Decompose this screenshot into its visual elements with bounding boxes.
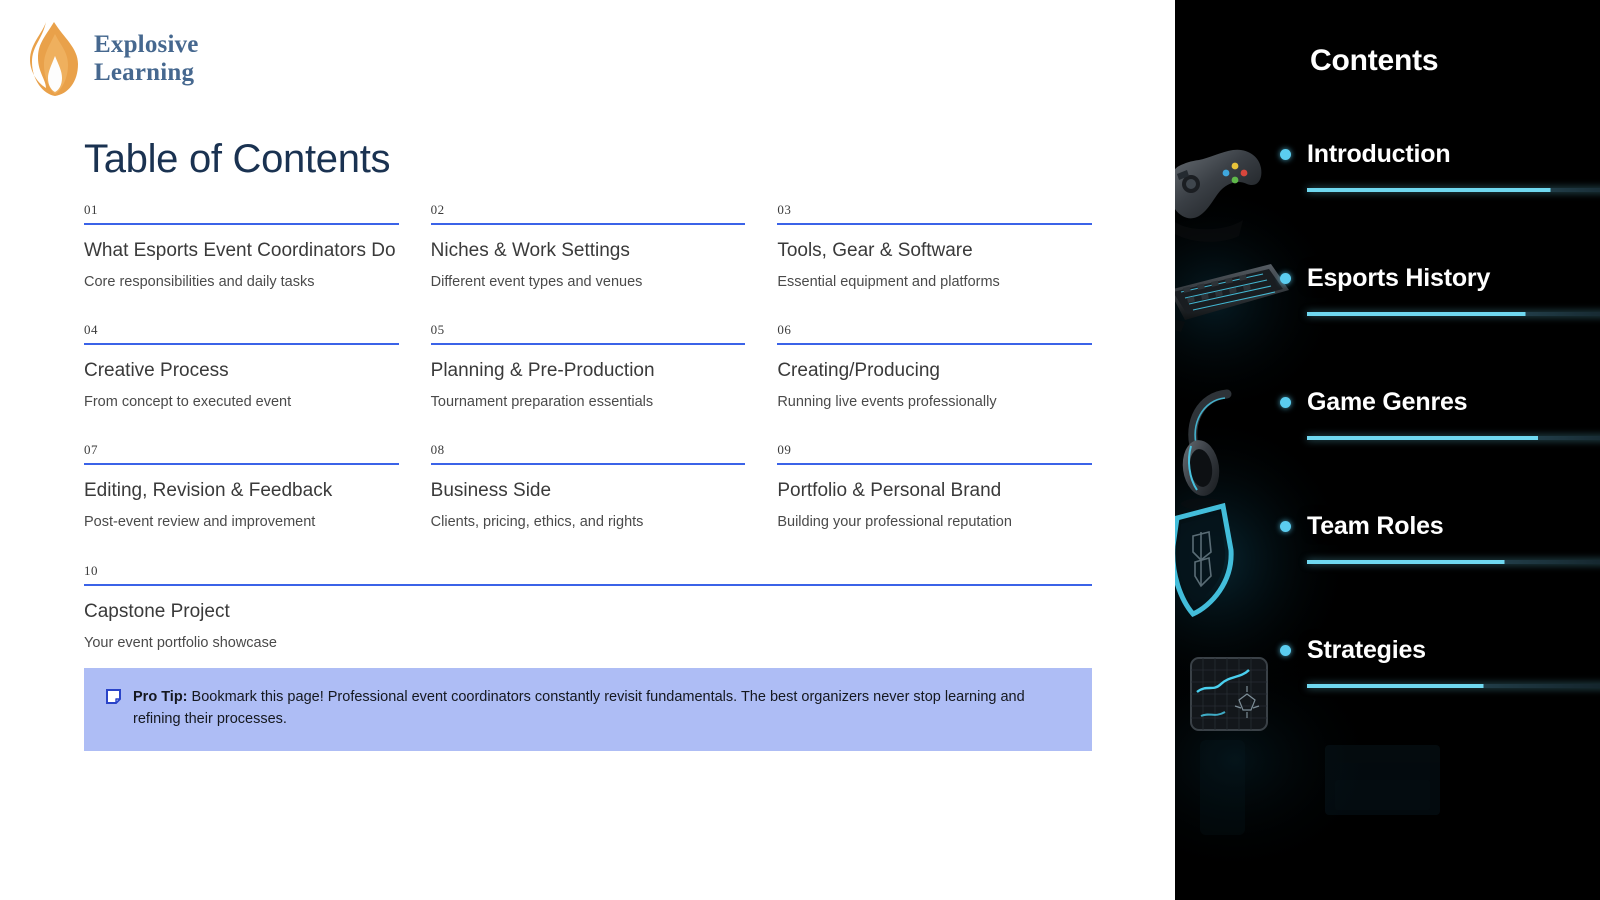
bullet-icon [1280,273,1291,284]
toc-title: Planning & Pre-Production [431,360,746,382]
toc-number: 10 [84,564,1092,584]
sidebar-item-underline [1307,188,1600,192]
toc-divider [777,343,1092,345]
toc-title: Capstone Project [84,601,1092,623]
toc-divider [431,463,746,465]
toc-row-gap [431,532,746,564]
toc-subtitle: Building your professional reputation [777,514,1092,531]
toc-divider [777,223,1092,225]
map-tablet-image [1191,658,1267,730]
toc-row-gap [777,532,1092,564]
toc-row-gap [777,411,1092,443]
sidebar-item-team-roles[interactable]: Team Roles [1280,512,1600,636]
sidebar-item-game-genres[interactable]: Game Genres [1280,388,1600,512]
toc-title: Business Side [431,480,746,502]
sidebar-item-strategies[interactable]: Strategies [1280,636,1600,760]
sidebar-panel: Contents Introduction Esports History [1175,0,1600,900]
brand-wordmark: Explosive Learning [94,31,199,87]
bullet-icon [1280,149,1291,160]
toc-title: Tools, Gear & Software [777,240,1092,262]
bullet-icon [1280,645,1291,656]
toc-divider [84,343,399,345]
sidebar-item-label: Esports History [1307,264,1490,293]
sidebar-item-label: Game Genres [1307,388,1467,417]
pro-tip-body: Bookmark this page! Professional event c… [133,689,1025,727]
toc-number: 09 [777,443,1092,463]
toc-divider [431,223,746,225]
sidebar-item-label: Strategies [1307,636,1426,665]
toc-subtitle: Post-event review and improvement [84,514,399,531]
toc-entry-05[interactable]: 05 Planning & Pre-Production Tournament … [431,323,746,411]
toc-number: 03 [777,203,1092,223]
toc-row-gap [84,411,399,443]
sidebar-item-label: Team Roles [1307,512,1443,541]
toc-subtitle: Essential equipment and platforms [777,274,1092,291]
slide-root: Explosive Learning Table of Contents 01 … [0,0,1600,900]
toc-divider [84,223,399,225]
toc-row-gap [84,291,399,323]
pro-tip-label: Pro Tip: [133,689,188,705]
toc-divider [431,343,746,345]
toc-row-gap [777,291,1092,323]
toc-entry-09[interactable]: 09 Portfolio & Personal Brand Building y… [777,443,1092,531]
toc-number: 08 [431,443,746,463]
sidebar-heading: Contents [1310,44,1438,78]
toc-entry-10[interactable]: 10 Capstone Project Your event portfolio… [84,564,1092,652]
toc-title: Creating/Producing [777,360,1092,382]
main-panel: Explosive Learning Table of Contents 01 … [0,0,1175,900]
pro-tip-text: Pro Tip: Bookmark this page! Professiona… [133,686,1070,731]
sidebar-item-underline [1307,436,1600,440]
sidebar-item-underline [1307,684,1600,688]
toc-entry-01[interactable]: 01 What Esports Event Coordinators Do Co… [84,203,399,291]
bullet-icon [1280,521,1291,532]
table-of-contents: 01 What Esports Event Coordinators Do Co… [84,203,1092,652]
toc-entry-08[interactable]: 08 Business Side Clients, pricing, ethic… [431,443,746,531]
toc-number: 02 [431,203,746,223]
brand-name-line1: Explosive [94,31,199,59]
bookmark-note-icon [106,689,121,709]
page-title: Table of Contents [84,137,390,182]
toc-number: 01 [84,203,399,223]
toc-title: Niches & Work Settings [431,240,746,262]
toc-title: What Esports Event Coordinators Do [84,240,399,262]
toc-subtitle: Running live events professionally [777,394,1092,411]
toc-entry-06[interactable]: 06 Creating/Producing Running live event… [777,323,1092,411]
sidebar-item-underline [1307,312,1600,316]
pro-tip-callout: Pro Tip: Bookmark this page! Professiona… [84,668,1092,751]
toc-entry-04[interactable]: 04 Creative Process From concept to exec… [84,323,399,411]
sidebar-item-esports-history[interactable]: Esports History [1280,264,1600,388]
brand-name-line2: Learning [94,59,199,87]
toc-number: 05 [431,323,746,343]
sidebar-contents-list: Introduction Esports History Game Genres [1280,140,1600,760]
toc-subtitle: Different event types and venues [431,274,746,291]
toc-entry-03[interactable]: 03 Tools, Gear & Software Essential equi… [777,203,1092,291]
toc-subtitle: Core responsibilities and daily tasks [84,274,399,291]
flame-icon [28,20,80,98]
toc-number: 04 [84,323,399,343]
toc-subtitle: From concept to executed event [84,394,399,411]
toc-row-gap [431,291,746,323]
bullet-icon [1280,397,1291,408]
toc-subtitle: Your event portfolio showcase [84,635,1092,652]
toc-row-gap [431,411,746,443]
toc-divider [777,463,1092,465]
toc-row-gap [84,532,399,564]
toc-title: Editing, Revision & Feedback [84,480,399,502]
toc-divider [84,463,399,465]
toc-number: 07 [84,443,399,463]
toc-divider [84,584,1092,586]
toc-title: Portfolio & Personal Brand [777,480,1092,502]
toc-subtitle: Tournament preparation essentials [431,394,746,411]
sidebar-item-underline [1307,560,1600,564]
toc-number: 06 [777,323,1092,343]
sidebar-item-label: Introduction [1307,140,1450,169]
toc-entry-07[interactable]: 07 Editing, Revision & Feedback Post-eve… [84,443,399,531]
brand-logo: Explosive Learning [28,20,199,98]
toc-title: Creative Process [84,360,399,382]
sidebar-item-introduction[interactable]: Introduction [1280,140,1600,264]
toc-entry-02[interactable]: 02 Niches & Work Settings Different even… [431,203,746,291]
toc-subtitle: Clients, pricing, ethics, and rights [431,514,746,531]
